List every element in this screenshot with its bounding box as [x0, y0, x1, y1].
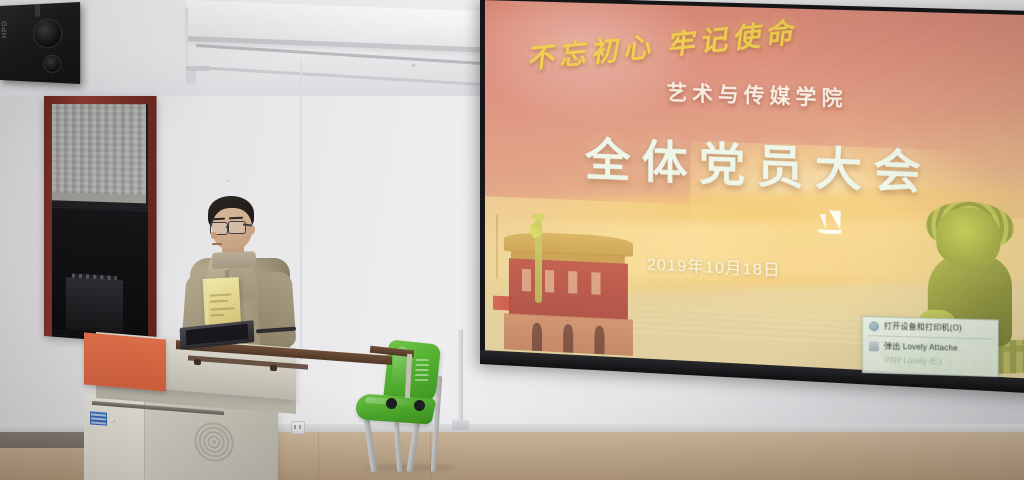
podium-blue-label: [90, 411, 107, 425]
label-line: [91, 413, 106, 416]
wall-mark: [412, 64, 415, 67]
tiananmen-arch: [594, 326, 604, 355]
sailboat-illustration: [818, 210, 849, 238]
chair-hinge-left: [386, 398, 397, 409]
lion-head: [937, 207, 1001, 266]
booklet-text-line: [210, 307, 234, 310]
presenter-nose: [211, 232, 217, 239]
wall-seam-upper: [186, 8, 188, 98]
podium-orange-accent-panel: [84, 332, 166, 391]
chair-seat: [353, 393, 436, 424]
tiananmen-window: [522, 269, 531, 292]
menu-item-label: 弹出 Lovely Attache: [884, 341, 958, 354]
speaker-brand-label: HPD: [2, 20, 9, 38]
tiananmen-arch: [532, 323, 542, 352]
podium-door-handle[interactable]: [110, 418, 115, 423]
presenter-collar: [212, 251, 257, 269]
speaker-tweeter-icon: [43, 55, 61, 74]
speaker-woofer-icon: [33, 18, 62, 48]
tiananmen-window: [568, 271, 577, 294]
chair-hinge-right: [414, 400, 425, 411]
blind-texture: [52, 104, 146, 199]
huabiao-column: [535, 219, 543, 304]
rail-bracket-arm: [186, 66, 210, 71]
sailboat-hull: [819, 229, 842, 234]
presenter-mouth: [212, 243, 222, 245]
flagpole: [496, 214, 498, 279]
wall-mark-secondary: [226, 180, 229, 182]
sailboat-jib: [820, 214, 826, 229]
eject-icon: [869, 341, 879, 351]
doorway-object: [66, 277, 123, 334]
devices-printers-icon: [869, 321, 879, 331]
menu-item-label: 打开设备和打印机(O): [884, 321, 962, 334]
label-line: [91, 417, 106, 420]
doorway-frame: [44, 96, 157, 345]
lecture-hall-photo: HPD: [0, 0, 1024, 480]
wall-speaker: HPD: [0, 2, 80, 84]
booklet-text-line: [209, 293, 231, 296]
doorway-blind: [52, 104, 146, 199]
label-line: [91, 421, 106, 424]
chair-vent-slots: [415, 357, 429, 381]
tiananmen-gate-illustration: [504, 209, 633, 356]
booklet-text-line: [210, 300, 228, 303]
eyeglasses-bridge: [226, 226, 229, 228]
podium-knob[interactable]: [270, 365, 277, 371]
red-flag: [493, 295, 511, 310]
booklet-text-line: [211, 314, 225, 317]
laptop-screen: [186, 324, 248, 345]
tiananmen-window: [591, 272, 600, 295]
windows-context-menu[interactable]: 打开设备和打印机(O) 弹出 Lovely Attache PNY Lovely…: [862, 316, 999, 377]
sailboat-mainsail: [826, 210, 841, 230]
tiananmen-window: [545, 270, 554, 293]
huabiao-cap: [532, 213, 545, 221]
floor-plank-line: [318, 432, 319, 480]
speaker-bracket: [35, 4, 40, 17]
lectern-podium: [84, 330, 314, 480]
tiananmen-arch: [563, 324, 573, 353]
podium-knob[interactable]: [194, 359, 201, 365]
